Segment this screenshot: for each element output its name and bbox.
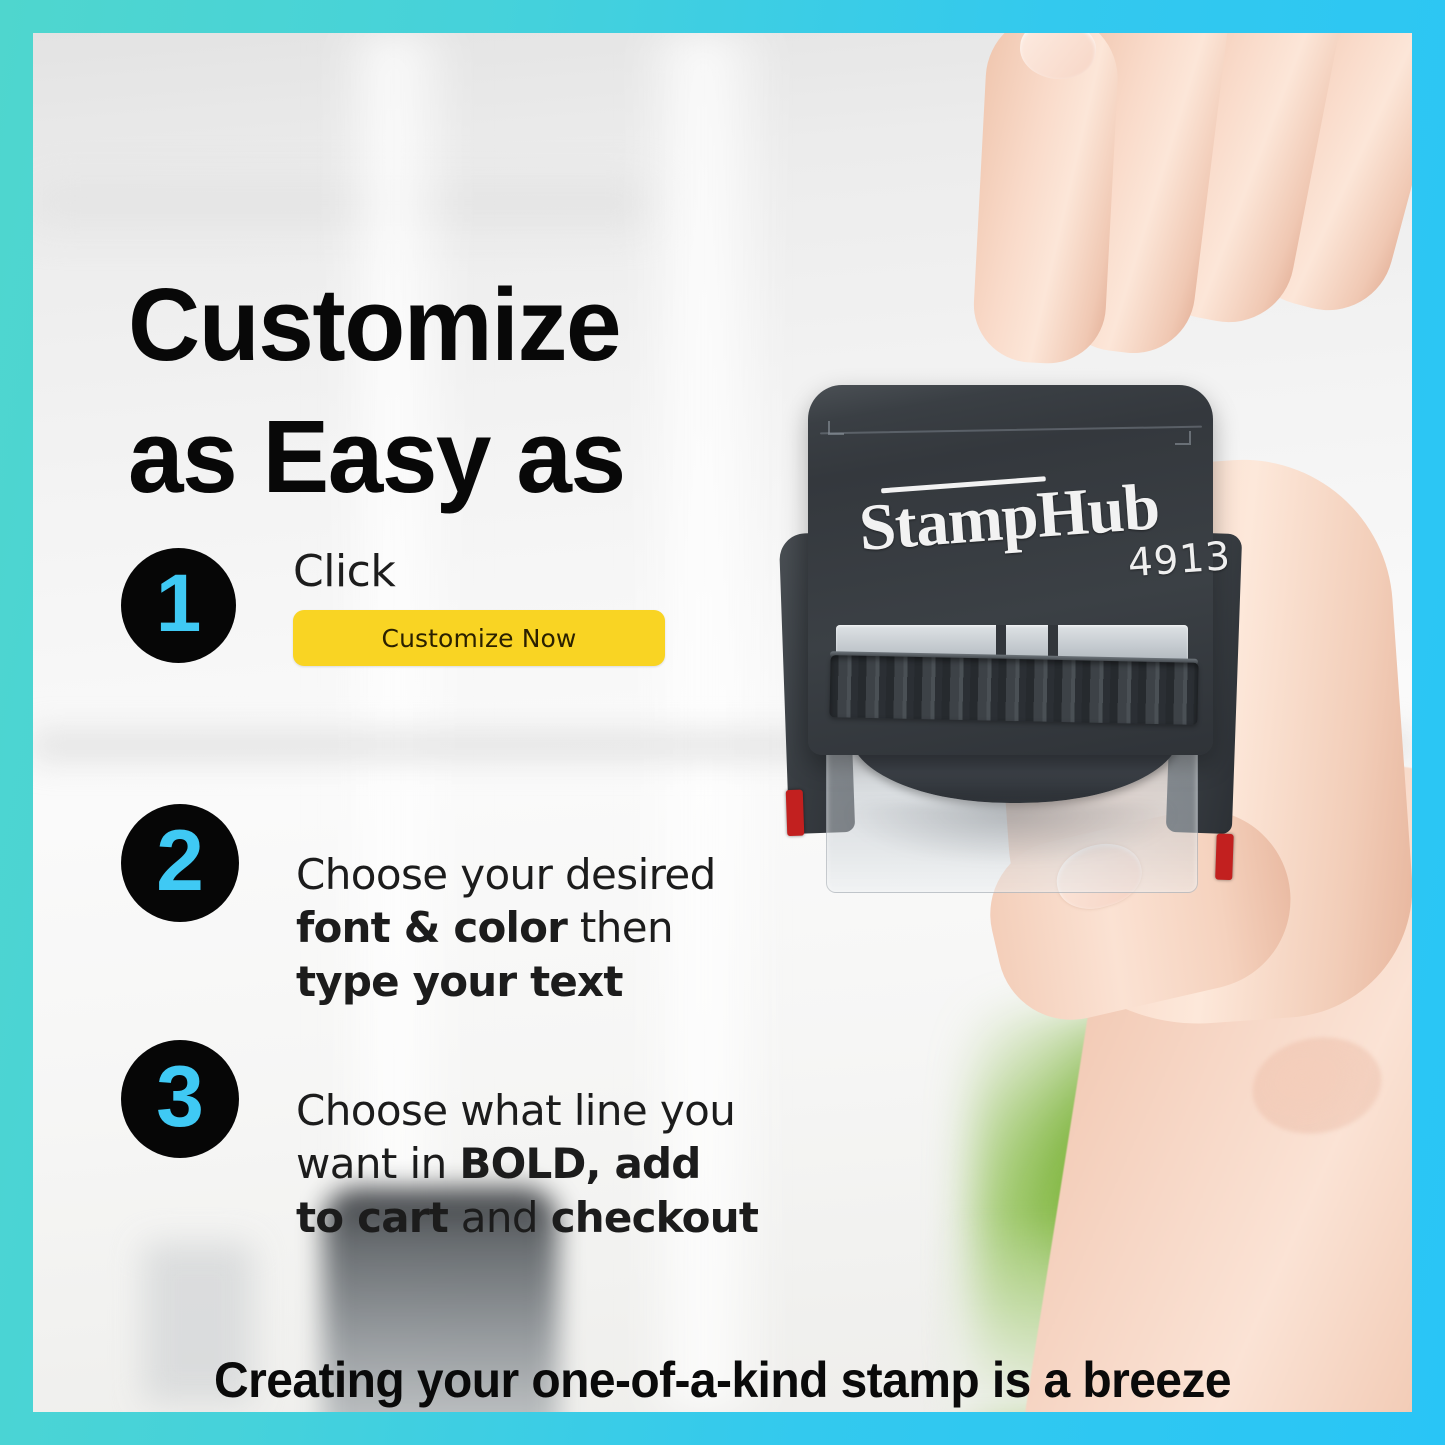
page-title: Customize as Easy as [128,259,625,523]
step-number-badge-1: 1 [121,548,236,663]
steps-list: 1 Click Customize Now 2 Choose your desi… [121,548,761,1240]
stamp-release-tab-right[interactable] [1215,834,1234,881]
step-item-2: 2 Choose your desired font & color then … [121,804,761,1040]
stamp-lid-notch-right [1175,431,1191,445]
promo-banner: StampHub 4913 Customize as Easy as 1 Cli… [0,0,1445,1445]
finger-index [971,33,1121,366]
customize-now-button[interactable]: Customize Now [293,610,665,666]
step-body-3: Choose what line you want in BOLD, add t… [296,1040,761,1286]
step-item-1: 1 Click Customize Now [121,548,761,804]
bottom-tagline: Creating your one-of-a-kind stamp is a b… [61,1351,1385,1409]
step-body-1: Click Customize Now [293,548,665,666]
step-1-label: Click [293,550,665,594]
stamp-lid-notch-left [828,421,844,435]
step-2-text: Choose your desired font & color then ty… [296,848,761,1008]
step-number-badge-2: 2 [121,804,239,922]
stamp-release-tab-left[interactable] [786,790,805,837]
step-3-text: Choose what line you want in BOLD, add t… [296,1084,761,1244]
step-number-badge-3: 3 [121,1040,239,1158]
step-body-2: Choose your desired font & color then ty… [296,804,761,1050]
stamp-base-shadow [848,803,1174,863]
stamp-grip-band [829,655,1198,725]
photo-panel: StampHub 4913 Customize as Easy as 1 Cli… [33,33,1412,1412]
stamp-product: StampHub 4913 [778,373,1243,873]
step-item-3: 3 Choose what line you want in BOLD, add… [121,1040,761,1240]
